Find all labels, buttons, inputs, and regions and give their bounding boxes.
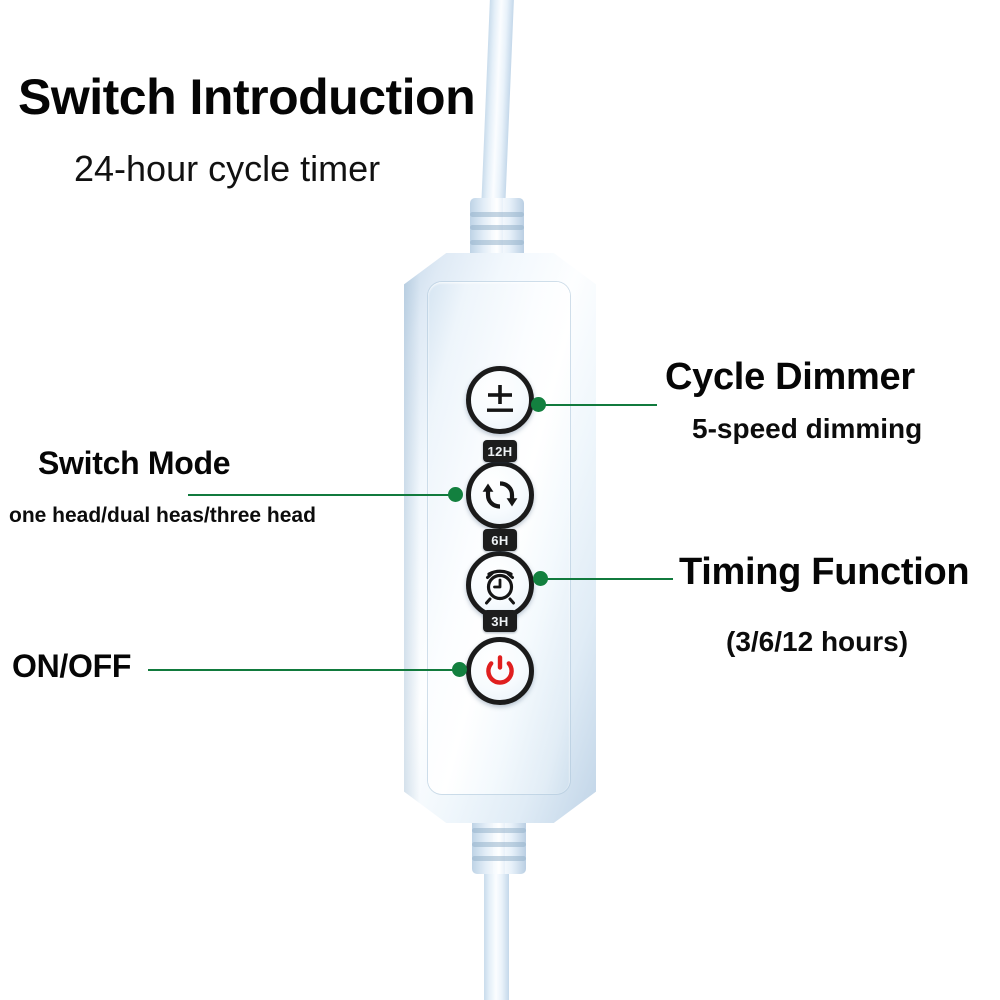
power-button[interactable] xyxy=(466,637,534,705)
power-cable-bottom-icon xyxy=(484,868,509,1000)
callout-subtitle-timing-function: (3/6/12 hours) xyxy=(726,626,908,658)
strain-relief-bottom-icon xyxy=(472,816,526,874)
badge-6h: 6H xyxy=(483,529,517,551)
power-icon xyxy=(481,652,519,690)
boot-rib xyxy=(472,856,526,861)
boot-rib xyxy=(470,212,524,217)
page-subtitle: 24-hour cycle timer xyxy=(74,148,380,190)
callout-title-timing-function: Timing Function xyxy=(679,551,969,594)
leader-line-on-off xyxy=(148,669,460,671)
infographic-canvas: Switch Introduction 24-hour cycle timer xyxy=(0,0,1000,1000)
callout-subtitle-cycle-dimmer: 5-speed dimming xyxy=(692,413,922,445)
leader-dot-on-off xyxy=(452,662,467,677)
badge-12h: 12H xyxy=(483,440,517,462)
callout-title-cycle-dimmer: Cycle Dimmer xyxy=(665,356,915,399)
leader-dot-cycle-dimmer xyxy=(531,397,546,412)
callout-subtitle-switch-mode: one head/dual heas/three head xyxy=(9,504,316,528)
dimmer-button[interactable] xyxy=(466,366,534,434)
brightness-plus-minus-icon xyxy=(480,380,520,420)
page-title: Switch Introduction xyxy=(18,68,475,126)
leader-line-cycle-dimmer xyxy=(539,404,657,406)
alarm-clock-icon xyxy=(479,564,521,606)
callout-title-switch-mode: Switch Mode xyxy=(38,445,230,482)
leader-dot-timing-function xyxy=(533,571,548,586)
strain-relief-top-icon xyxy=(470,198,524,260)
boot-rib xyxy=(470,240,524,245)
boot-rib xyxy=(472,828,526,833)
boot-rib xyxy=(472,842,526,847)
leader-line-switch-mode xyxy=(188,494,456,496)
leader-dot-switch-mode xyxy=(448,487,463,502)
timer-button[interactable] xyxy=(466,551,534,619)
mode-button[interactable] xyxy=(466,461,534,529)
badge-3h: 3H xyxy=(483,610,517,632)
leader-line-timing-function xyxy=(541,578,673,580)
power-cable-top-icon xyxy=(481,0,514,213)
cycle-arrows-icon xyxy=(480,475,520,515)
boot-rib xyxy=(470,225,524,230)
callout-title-on-off: ON/OFF xyxy=(12,648,131,685)
